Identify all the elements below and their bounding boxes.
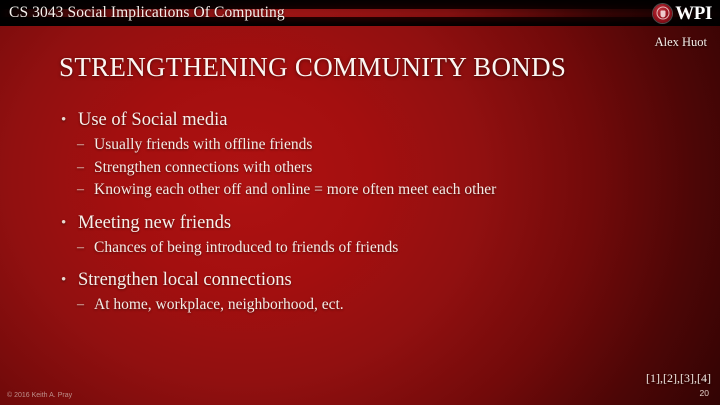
bullet-dash-icon: – [77,134,84,157]
course-title: CS 3043 Social Implications Of Computing [9,2,285,24]
bullet-dot-icon: • [61,211,66,236]
bullet-dot-icon: • [61,108,66,133]
presenter-name: Alex Huot [655,34,707,50]
bullet-level2-label: Usually friends with offline friends [94,136,312,153]
bullet-dot-icon: • [61,268,66,293]
slide-title: STRENGTHENING COMMUNITY BONDS [59,51,566,83]
copyright-notice: © 2016 Keith A. Pray [7,391,72,400]
presentation-slide: CS 3043 Social Implications Of Computing… [0,0,720,405]
wpi-logo: WPI [653,2,712,24]
bullet-level1-label: Use of Social media [78,110,228,130]
bullet-level1: • Meeting new friends [58,211,668,236]
bullet-level2-label: Knowing each other off and online = more… [94,181,496,198]
page-number: 20 [700,388,709,399]
bullet-level1: • Use of Social media [58,108,668,133]
bullet-level2-label: Strengthen connections with others [94,159,312,176]
bullet-group: • Meeting new friends – Chances of being… [58,211,668,260]
group-spacer [58,259,668,268]
bullet-level2: – Strengthen connections with others [58,157,668,180]
bullet-level1: • Strengthen local connections [58,268,668,293]
wpi-seal-icon [653,4,672,23]
bullet-level2: – Usually friends with offline friends [58,134,668,157]
slide-body: • Use of Social media – Usually friends … [58,108,668,317]
bullet-level1-label: Meeting new friends [78,213,231,233]
bullet-dash-icon: – [77,179,84,202]
bullet-level2-label: At home, workplace, neighborhood, ect. [94,296,344,313]
bullet-level2: – At home, workplace, neighborhood, ect. [58,294,668,317]
citation-references: [1],[2],[3],[4] [646,371,711,385]
bullet-dash-icon: – [77,157,84,180]
wpi-wordmark: WPI [675,4,712,23]
bullet-level2-label: Chances of being introduced to friends o… [94,239,398,256]
group-spacer [58,202,668,211]
bullet-group: • Use of Social media – Usually friends … [58,108,668,202]
bullet-level2: – Knowing each other off and online = mo… [58,179,668,202]
bullet-level1-label: Strengthen local connections [78,270,292,290]
bullet-group: • Strengthen local connections – At home… [58,268,668,317]
bullet-dash-icon: – [77,237,84,260]
bullet-level2: – Chances of being introduced to friends… [58,237,668,260]
bullet-dash-icon: – [77,294,84,317]
